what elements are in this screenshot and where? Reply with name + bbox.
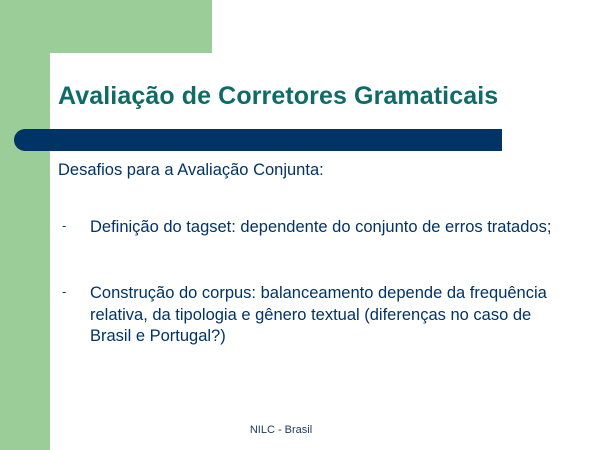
- slide-footer: NILC - Brasil: [0, 424, 600, 436]
- bullet-list: - Definição do tagset: dependente do con…: [58, 217, 558, 349]
- green-side-stripe-decoration: [0, 0, 50, 450]
- list-item: - Construção do corpus: balanceamento de…: [58, 283, 558, 349]
- dash-bullet-icon: -: [62, 217, 66, 234]
- list-item: - Definição do tagset: dependente do con…: [58, 217, 558, 239]
- slide-title: Avaliação de Corretores Gramaticais: [58, 82, 578, 110]
- list-item-text: Definição do tagset: dependente do conju…: [90, 217, 558, 239]
- slide-body: Desafios para a Avaliação Conjunta: - De…: [58, 160, 558, 348]
- list-item-text: Construção do corpus: balanceamento depe…: [90, 283, 558, 349]
- lead-text: Desafios para a Avaliação Conjunta:: [58, 160, 558, 181]
- slide-canvas: Avaliação de Corretores Gramaticais Desa…: [0, 0, 600, 450]
- title-underline-bar: [14, 129, 502, 151]
- dash-bullet-icon: -: [62, 283, 66, 300]
